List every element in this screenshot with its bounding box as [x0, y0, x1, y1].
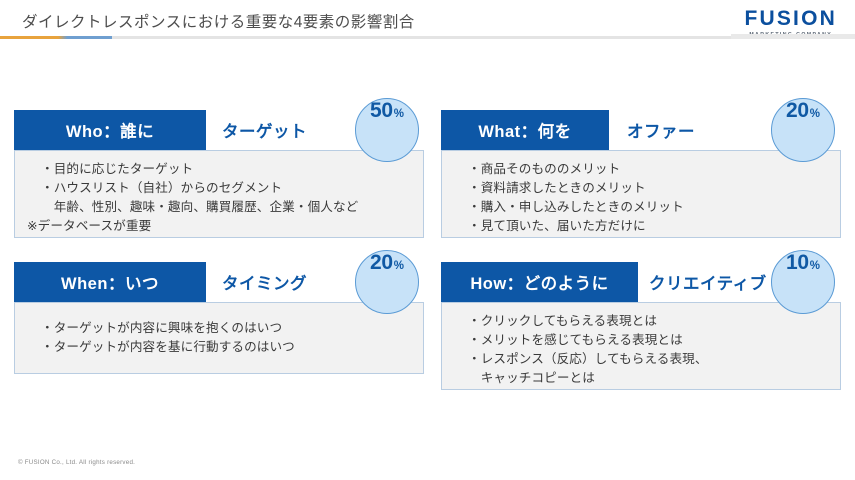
percent-value-group: 20 % — [370, 251, 404, 275]
card-tag-what: What：何を — [441, 110, 609, 150]
card-body-how: ・クリックしてもらえる表現とは ・メリットを感じてもらえる表現とは ・レスポンス… — [441, 302, 841, 390]
bullet-item: ・ハウスリスト（自社）からのセグメント — [41, 179, 409, 198]
bullet-item: ・レスポンス（反応）してもらえる表現、 — [468, 350, 826, 369]
bullet-item: ・ターゲットが内容を基に行動するのはいつ — [41, 338, 409, 357]
card-tag-who: Who：誰に — [14, 110, 206, 150]
bullet-item: ・見て頂いた、届いた方だけに — [468, 217, 826, 236]
percent-symbol: % — [810, 108, 820, 120]
card-tag-when: When：いつ — [14, 262, 206, 302]
bullet-item: ・資料請求したときのメリット — [468, 179, 826, 198]
title-divider — [0, 36, 855, 39]
card-who: Who：誰に ターゲット ・目的に応じたターゲット ・ハウスリスト（自社）からの… — [14, 110, 424, 238]
card-what: What：何を オファー ・商品そのもののメリット ・資料請求したときのメリット… — [441, 110, 841, 238]
percent-badge-how: 10 % — [771, 250, 835, 314]
percent-number: 20 — [370, 251, 393, 275]
bullet-item: ・目的に応じたターゲット — [41, 160, 409, 179]
card-tag-how: How：どのように — [441, 262, 638, 302]
card-when: When：いつ タイミング ・ターゲットが内容に興味を抱くのはいつ ・ターゲット… — [14, 262, 424, 374]
bullet-item: 年齢、性別、趣味・趣向、購買履歴、企業・個人など — [41, 198, 409, 217]
percent-symbol: % — [394, 108, 404, 120]
percent-value-group: 10 % — [786, 251, 820, 275]
percent-badge-what: 20 % — [771, 98, 835, 162]
slide: ダイレクトレスポンスにおける重要な4要素の影響割合 FUSION MARKETI… — [0, 0, 855, 480]
percent-badge-who: 50 % — [355, 98, 419, 162]
logo-underline-bar — [731, 34, 855, 39]
percent-symbol: % — [810, 260, 820, 272]
bullet-item: ・商品そのもののメリット — [468, 160, 826, 179]
bullet-item: ・クリックしてもらえる表現とは — [468, 312, 826, 331]
bullet-item: ・ターゲットが内容に興味を抱くのはいつ — [41, 319, 409, 338]
title-accent-bar — [0, 36, 112, 39]
card-subject-what: オファー — [627, 110, 695, 150]
card-body-when: ・ターゲットが内容に興味を抱くのはいつ ・ターゲットが内容を基に行動するのはいつ — [14, 302, 424, 374]
percent-number: 50 — [370, 99, 393, 123]
bullet-item: ※データベースが重要 — [27, 217, 409, 236]
card-subject-when: タイミング — [222, 262, 307, 302]
card-subject-who: ターゲット — [222, 110, 307, 150]
card-how: How：どのように クリエイティブ ・クリックしてもらえる表現とは ・メリットを… — [441, 262, 841, 390]
copyright-notice: © FUSION Co., Ltd. All rights reserved. — [18, 459, 135, 466]
bullet-item: キャッチコピーとは — [468, 369, 826, 388]
percent-value-group: 50 % — [370, 99, 404, 123]
bullet-item: ・購入・申し込みしたときのメリット — [468, 198, 826, 217]
card-body-what: ・商品そのもののメリット ・資料請求したときのメリット ・購入・申し込みしたとき… — [441, 150, 841, 238]
percent-value-group: 20 % — [786, 99, 820, 123]
logo-wordmark: FUSION — [744, 8, 837, 29]
percent-number: 10 — [786, 251, 809, 275]
bullet-item: ・メリットを感じてもらえる表現とは — [468, 331, 826, 350]
percent-symbol: % — [394, 260, 404, 272]
percent-number: 20 — [786, 99, 809, 123]
card-subject-how: クリエイティブ — [649, 262, 767, 302]
percent-badge-when: 20 % — [355, 250, 419, 314]
page-title: ダイレクトレスポンスにおける重要な4要素の影響割合 — [22, 10, 415, 32]
card-body-who: ・目的に応じたターゲット ・ハウスリスト（自社）からのセグメント 年齢、性別、趣… — [14, 150, 424, 238]
